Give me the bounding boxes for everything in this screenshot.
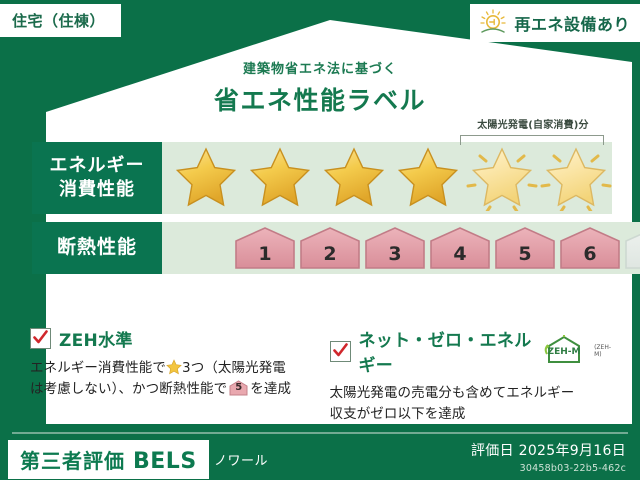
evaluation-id: 30458b03-22b5-462c [471,463,626,474]
check-icon [32,329,49,346]
third-party-label: 第三者評価 [20,445,125,474]
star-filled [392,145,464,211]
solar-annotation-bracket [460,135,604,145]
insulation-level-inactive: 7 [624,226,640,270]
renewable-badge-label: 再エネ設備あり [514,11,630,35]
claim-zeh-checkbox[interactable] [30,328,51,349]
claim-zeh-text-3: は考慮しない）、かつ断熱性能で [30,381,227,397]
claims-section: ZEH水準 エネルギー消費性能で 3つ（太陽光発電 は考慮しない）、かつ断熱性能… [30,326,615,425]
evaluation-date-value: 2025年9月16日 [519,443,626,459]
claim-zeh-text-2: 3つ（太陽光発電 [182,360,286,376]
star-filled [244,145,316,211]
claim-zeh-text-1: エネルギー消費性能で [30,360,166,376]
star-solar [466,145,538,211]
bels-certification-box: 第三者評価 BELS [8,440,209,479]
insulation-level-active: 4 [429,226,491,270]
footer-divider [12,432,628,434]
label-footer: 第三者評価 BELS ノワール 評価日 2025年9月16日 30458b03-… [0,432,640,480]
star-filled [318,145,390,211]
insulation-level-active: 5 [494,226,556,270]
claim-zeh-body: エネルギー消費性能で 3つ（太陽光発電 は考慮しない）、かつ断熱性能で 5を達成 [30,358,316,400]
star-rating [162,145,612,211]
dwelling-type-tag: 住宅（住棟） [0,4,121,37]
claim-nze-text-1: 太陽光発電の売電分も含めてエネルギー [330,385,575,401]
star-solar [540,145,612,211]
claim-nze-header: ネット・ゼロ・エネルギー ZEH-M (ZEH-M) [330,326,616,376]
insulation-level-scale: 1 2 3 [162,226,640,270]
energy-key-line1: エネルギー [50,154,145,178]
inline-star-icon [166,359,182,375]
claim-nze-title: ネット・ゼロ・エネルギー [359,326,537,376]
claim-zeh-header: ZEH水準 [30,326,316,351]
energy-performance-row: エネルギー 消費性能 太陽光発電(自家消費)分 [32,142,610,214]
claim-nze-body: 太陽光発電の売電分も含めてエネルギー 収支がゼロ以下を達成 [330,383,616,425]
check-icon [332,342,349,359]
label-title: 省エネ性能ラベル [0,81,640,117]
insulation-performance-row: 断熱性能 1 [32,222,610,274]
label-title-block: 建築物省エネ法に基づく 省エネ性能ラベル [0,58,640,117]
zeh-m-logo-caption: (ZEH-M) [594,344,615,358]
insulation-level-active: 1 [234,226,296,270]
claim-nze-text-2: 収支がゼロ以下を達成 [330,406,466,422]
energy-performance-key: エネルギー 消費性能 [32,142,162,214]
claim-net-zero-energy: ネット・ゼロ・エネルギー ZEH-M (ZEH-M) 太陽光発電の売電分も含めて… [330,326,616,425]
property-name: ノワール [214,450,268,469]
energy-performance-value: 太陽光発電(自家消費)分 [162,142,612,214]
zeh-m-logo: ZEH-M [542,334,586,368]
energy-performance-label: 住宅（住棟） 再エネ設備あり 建築物省エネ法に基づく 省エネ性能ラベル [0,0,640,480]
inline-level-badge-number: 5 [229,380,248,396]
claim-zeh-title: ZEH水準 [59,326,133,351]
svg-text:ZEH-M: ZEH-M [548,347,581,357]
insulation-level-active: 2 [299,226,361,270]
bels-label: BELS [133,449,197,474]
performance-rows: エネルギー 消費性能 太陽光発電(自家消費)分 [32,142,610,282]
insulation-level-active: 3 [364,226,426,270]
claim-zeh: ZEH水準 エネルギー消費性能で 3つ（太陽光発電 は考慮しない）、かつ断熱性能… [30,326,316,425]
insulation-performance-value: 1 2 3 [162,222,640,274]
label-subtitle: 建築物省エネ法に基づく [0,58,640,77]
star-filled [170,145,242,211]
evaluation-date: 評価日 2025年9月16日 [471,440,626,460]
claim-nze-checkbox[interactable] [330,341,351,362]
energy-key-line2: 消費性能 [59,178,135,202]
insulation-level-active: 6 [559,226,621,270]
renewable-equipment-badge: 再エネ設備あり [470,4,640,42]
solar-annotation-label: 太陽光発電(自家消費)分 [460,116,606,131]
insulation-performance-key: 断熱性能 [32,222,162,274]
sun-icon [478,8,508,38]
claim-zeh-text-4: を達成 [250,381,291,397]
inline-level-badge: 5 [229,380,248,396]
evaluation-date-label: 評価日 [471,443,514,459]
evaluation-info: 評価日 2025年9月16日 30458b03-22b5-462c [471,440,626,474]
